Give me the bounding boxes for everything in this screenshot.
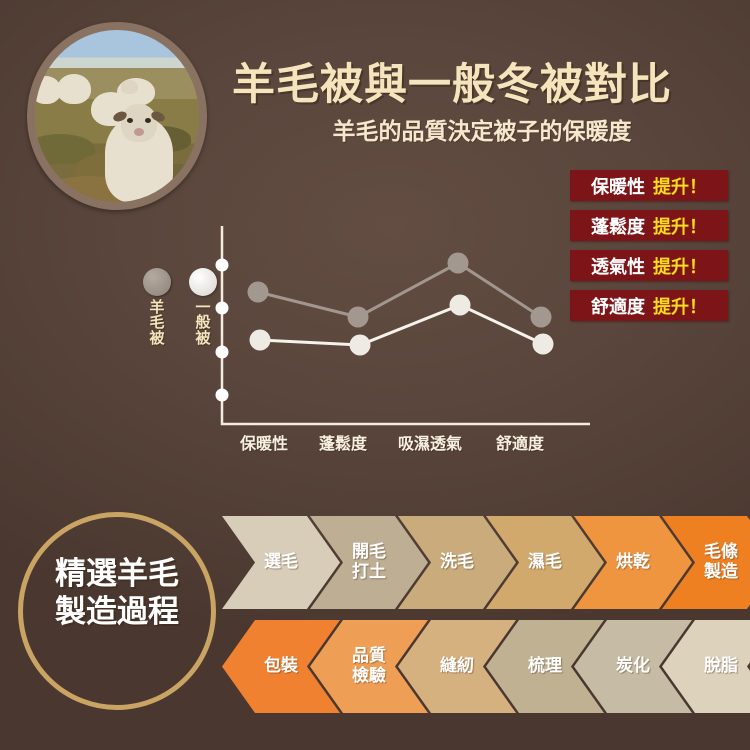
process-step-label: 梳理 <box>528 657 562 676</box>
benefit-badge-list: 保暖性 提升！ 蓬鬆度 提升！ 透氣性 提升！ 舒適度 提升！ <box>570 170 728 321</box>
poster-canvas: 羊毛被與一般冬被對比 羊毛的品質決定被子的保暖度 保暖性 提升！ 蓬鬆度 提升！… <box>0 0 750 750</box>
process-step-label: 濕毛 <box>528 553 562 572</box>
benefit-badge: 透氣性 提升！ <box>570 250 728 281</box>
series-line-regular <box>260 305 543 345</box>
process-row-top: 選毛 開毛打土 洗毛 濕毛 烘乾 毛條製造 <box>222 516 742 611</box>
series-point-regular <box>250 330 271 351</box>
y-tick-dot <box>216 346 229 359</box>
series-line-wool <box>258 263 541 317</box>
process-step-label: 毛條製造 <box>704 543 738 581</box>
process-step-label: 包裝 <box>264 657 298 676</box>
benefit-badge-label: 蓬鬆度 <box>591 213 645 239</box>
y-tick-dot <box>216 302 229 315</box>
series-point-wool <box>248 282 269 303</box>
sheep-photo-frame <box>27 22 207 210</box>
benefit-badge: 舒適度 提升！ <box>570 290 728 321</box>
process-step-label: 選毛 <box>264 553 298 572</box>
benefit-badge-value: 提升！ <box>653 173 707 199</box>
process-step-label: 炭化 <box>616 657 650 676</box>
process-step-label: 縫紉 <box>440 657 474 676</box>
benefit-badge: 保暖性 提升！ <box>570 170 728 201</box>
series-point-wool <box>448 253 469 274</box>
benefit-badge-label: 保暖性 <box>591 173 645 199</box>
benefit-badge-label: 舒適度 <box>591 293 645 319</box>
benefit-badge-value: 提升！ <box>653 213 707 239</box>
benefit-badge: 蓬鬆度 提升！ <box>570 210 728 241</box>
sheep-photo-image <box>35 30 199 202</box>
process-step-label: 洗毛 <box>440 553 474 572</box>
series-point-regular <box>450 295 471 316</box>
y-tick-dot <box>216 389 229 402</box>
benefit-badge-label: 透氣性 <box>591 253 645 279</box>
series-point-regular <box>533 334 554 355</box>
x-axis-label: 吸濕透氣 <box>398 430 462 454</box>
process-title: 精選羊毛 製造過程 <box>18 556 216 632</box>
x-axis-label: 保暖性 <box>240 430 288 454</box>
page-title: 羊毛被與一般冬被對比 <box>232 50 732 112</box>
series-point-wool <box>348 307 369 328</box>
process-title-line2: 製造過程 <box>18 594 216 632</box>
benefit-badge-value: 提升！ <box>653 253 707 279</box>
x-axis-label: 舒適度 <box>496 430 544 454</box>
benefit-badge-value: 提升！ <box>653 293 707 319</box>
process-row-bottom: 包裝 品質檢驗 縫紉 梳理 炭化 脫脂 <box>222 620 742 715</box>
process-step-label: 品質檢驗 <box>352 647 386 685</box>
series-point-wool <box>531 307 552 328</box>
process-step-label: 脫脂 <box>704 657 738 676</box>
comparison-line-chart <box>120 212 590 452</box>
x-axis-label: 蓬鬆度 <box>319 430 367 454</box>
process-step-label: 烘乾 <box>616 553 650 572</box>
process-step-label: 開毛打土 <box>352 543 386 581</box>
process-title-line1: 精選羊毛 <box>18 556 216 594</box>
series-point-regular <box>350 335 371 356</box>
page-subtitle: 羊毛的品質決定被子的保暖度 <box>232 112 732 146</box>
y-tick-dot <box>216 259 229 272</box>
